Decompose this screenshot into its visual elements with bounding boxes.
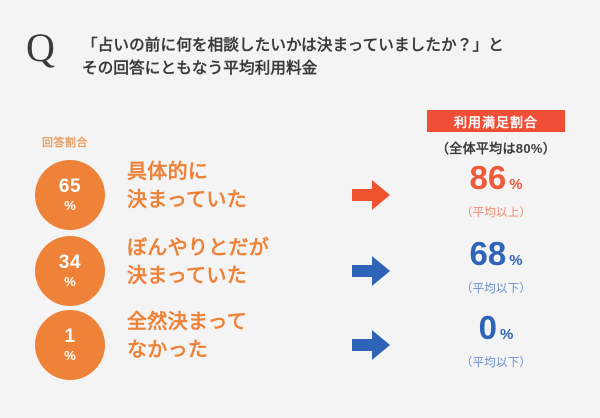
satisfaction-number: 68 xyxy=(469,235,506,272)
satisfaction-value-block: 86% （平均以上） xyxy=(417,160,575,221)
data-row: 65 % 具体的に 決まっていた 86% （平均以上） xyxy=(0,158,600,232)
overall-average-note: （全体平均は80%） xyxy=(417,138,575,157)
satisfaction-note: （平均以下） xyxy=(417,355,575,371)
response-ratio-unit: % xyxy=(64,274,76,290)
page-title: 「占いの前に何を相談したいかは決まっていましたか？」と その回答にともなう平均利… xyxy=(82,34,578,80)
satisfaction-number: 86 xyxy=(469,159,506,196)
response-ratio-unit: % xyxy=(64,198,76,214)
satisfaction-note: （平均以下） xyxy=(417,281,575,297)
satisfaction-value: 0% xyxy=(417,310,575,353)
data-row: 34 % ぼんやりとだが 決まっていた 68% （平均以下） xyxy=(0,234,600,308)
satisfaction-value: 86% xyxy=(417,160,575,203)
response-ratio-circle: 34 % xyxy=(35,236,105,306)
arrow-right-icon xyxy=(352,256,390,286)
infographic-canvas: Q 「占いの前に何を相談したいかは決まっていましたか？」と その回答にともなう平… xyxy=(0,0,600,418)
satisfaction-number: 0 xyxy=(479,309,497,346)
satisfaction-note: （平均以上） xyxy=(417,205,575,221)
question-marker: Q xyxy=(26,28,55,68)
response-ratio-unit: % xyxy=(64,348,76,364)
satisfaction-value-block: 68% （平均以下） xyxy=(417,236,575,297)
answer-label-line-2: なかった xyxy=(127,336,342,364)
satisfaction-value-block: 0% （平均以下） xyxy=(417,310,575,371)
satisfaction-unit: % xyxy=(500,326,513,343)
data-row: 1 % 全然決まって なかった 0% （平均以下） xyxy=(0,308,600,382)
satisfaction-unit: % xyxy=(509,252,522,269)
answer-label: 全然決まって なかった xyxy=(127,308,342,364)
response-ratio-value: 34 xyxy=(59,253,81,273)
header: Q 「占いの前に何を相談したいかは決まっていましたか？」と その回答にともなう平… xyxy=(0,0,600,100)
satisfaction-value: 68% xyxy=(417,236,575,279)
response-ratio-value: 65 xyxy=(59,177,81,197)
page-title-line-2: その回答にともなう平均利用料金 xyxy=(82,57,578,80)
response-ratio-label: 回答割合 xyxy=(42,134,88,150)
response-ratio-value: 1 xyxy=(64,327,75,347)
satisfaction-badge: 利用満足割合 xyxy=(427,110,565,132)
answer-label-line-2: 決まっていた xyxy=(127,262,342,290)
arrow-right-icon xyxy=(352,330,390,360)
answer-label-line-1: 具体的に xyxy=(127,158,342,186)
answer-label: ぼんやりとだが 決まっていた xyxy=(127,234,342,290)
response-ratio-circle: 1 % xyxy=(35,310,105,380)
answer-label: 具体的に 決まっていた xyxy=(127,158,342,214)
arrow-right-icon xyxy=(352,180,390,210)
response-ratio-circle: 65 % xyxy=(35,160,105,230)
page-title-line-1: 「占いの前に何を相談したいかは決まっていましたか？」と xyxy=(82,37,504,54)
answer-label-line-1: ぼんやりとだが xyxy=(127,234,342,262)
satisfaction-unit: % xyxy=(509,176,522,193)
answer-label-line-2: 決まっていた xyxy=(127,186,342,214)
answer-label-line-1: 全然決まって xyxy=(127,308,342,336)
